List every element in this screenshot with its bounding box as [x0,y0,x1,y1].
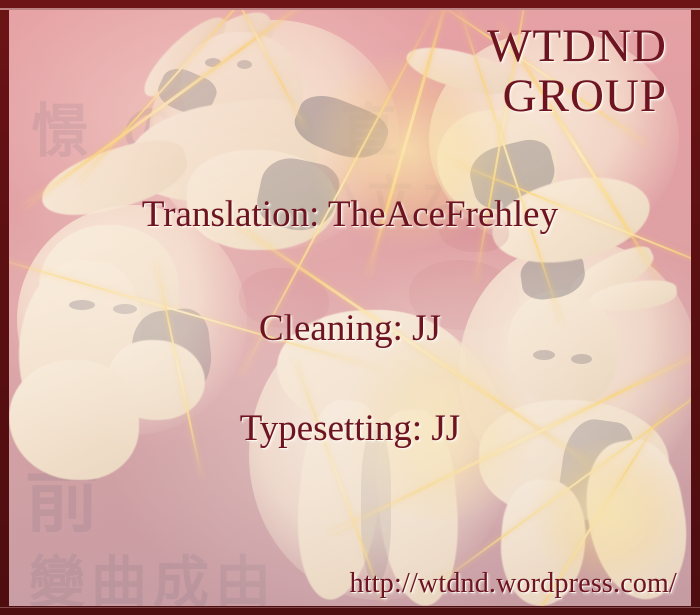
artwork-shadow-shape [571,354,592,364]
group-title-line-1: WTDND [487,22,667,72]
artwork-canvas: 憬 のスタ 直 い立な 前 變曲成由 V% あるに [9,10,691,606]
group-title: WTDND GROUP [487,22,667,122]
group-website-url[interactable]: http://wtdnd.wordpress.com/ [350,568,677,600]
group-title-line-2: GROUP [487,72,667,122]
watermark-text: 變曲成由 [29,538,277,606]
credit-translation: Translation: TheAceFrehley [9,193,691,236]
credit-typesetting: Typesetting: JJ [9,407,691,450]
artwork-shadow-shape [533,350,555,360]
credit-cleaning: Cleaning: JJ [9,307,691,350]
artwork-shadow-shape [237,60,252,69]
credits-page: 憬 のスタ 直 い立な 前 變曲成由 V% あるに [0,0,700,615]
border-highlight-bottom [0,607,700,608]
